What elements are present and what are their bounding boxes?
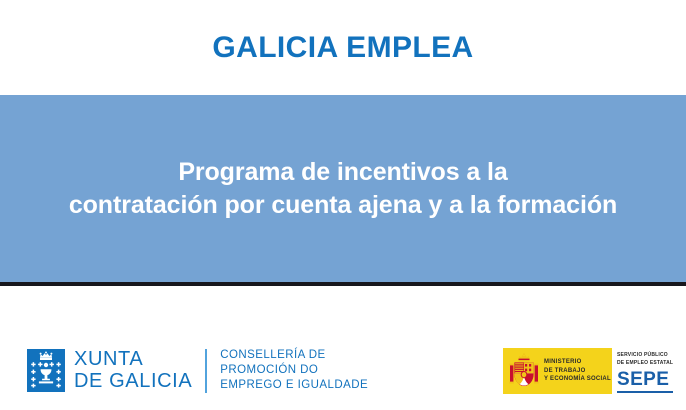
program-banner-text: Programa de incentivos a la contratación… [55,156,631,222]
sepe-underline [617,391,673,393]
program-banner: Programa de incentivos a la contratación… [0,95,686,282]
xunta-wordmark-line-2: DE GALICIA [74,371,192,393]
xunta-wordmark: XUNTA DE GALICIA [74,349,192,392]
gobierno-de-espana-logo: MINISTERIO DE TRABAJO Y ECONOMÍA SOCIAL … [503,348,686,394]
xunta-coat-of-arms-icon [27,349,65,392]
poster-page: GALICIA EMPLEA Programa de incentivos a … [0,0,686,410]
logo-divider [205,349,207,393]
spain-coat-of-arms-icon [509,353,539,389]
program-banner-line-1: Programa de incentivos a la [69,156,617,189]
ministerio-line-1: MINISTERIO [544,358,611,367]
sepe-subtitle-line-2: DE EMPLEO ESTATAL [617,360,686,368]
ministerio-line-3: Y ECONOMÍA SOCIAL [544,375,611,384]
ministerio-line-2: DE TRABAJO [544,367,611,376]
footer-logos: XUNTA DE GALICIA CONSELLERÍA DE PROMOCIÓ… [0,286,686,410]
xunta-de-galicia-logo: XUNTA DE GALICIA CONSELLERÍA DE PROMOCIÓ… [27,348,368,394]
sepe-acronym: SEPE [617,370,686,389]
sepe-subtitle-line-1: SERVICIO PÚBLICO [617,352,686,360]
title-zone: GALICIA EMPLEA [0,0,686,95]
ministerio-wordmark: MINISTERIO DE TRABAJO Y ECONOMÍA SOCIAL [544,358,611,384]
sepe-subtitle: SERVICIO PÚBLICO DE EMPLEO ESTATAL [617,352,686,367]
conselleria-line-2: PROMOCIÓN DO [220,363,368,378]
conselleria-wordmark: CONSELLERÍA DE PROMOCIÓN DO EMPREGO E IG… [220,348,368,394]
sepe-block: SERVICIO PÚBLICO DE EMPLEO ESTATAL SEPE [612,348,686,394]
program-banner-line-2: contratación por cuenta ajena y a la for… [69,189,617,222]
ministerio-block: MINISTERIO DE TRABAJO Y ECONOMÍA SOCIAL [503,348,612,394]
xunta-wordmark-line-1: XUNTA [74,349,192,371]
conselleria-line-3: EMPREGO E IGUALDADE [220,378,368,393]
conselleria-line-1: CONSELLERÍA DE [220,348,368,363]
page-title: GALICIA EMPLEA [212,33,473,63]
